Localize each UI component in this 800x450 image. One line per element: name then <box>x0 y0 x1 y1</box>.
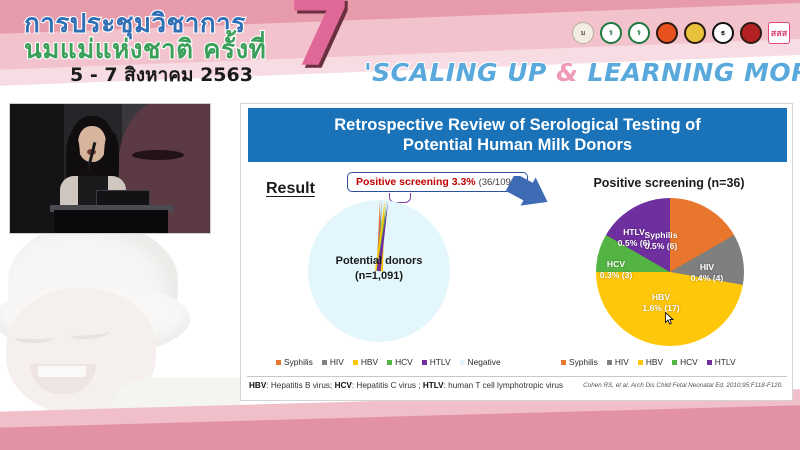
legend-item-hiv-right: HIV <box>607 357 629 367</box>
conference-edition-number: 7 <box>288 0 352 80</box>
pie-label-hiv-value: 0.4% (4) <box>681 273 733 284</box>
pie-label-hbv-name: HBV <box>633 292 689 303</box>
podium <box>54 210 168 234</box>
slide-title-line1: Retrospective Review of Serological Test… <box>334 115 700 135</box>
legend-item-hbv-left: HBV <box>353 357 378 367</box>
pie-left-label-line2: (n=1,091) <box>308 269 450 284</box>
pie-left-center-label: Potential donors (n=1,091) <box>308 254 450 284</box>
legend-item-hcv-right: HCV <box>672 357 698 367</box>
legend-item-htlv-right: HTLV <box>707 357 736 367</box>
legend-potential-donors: Syphilis HIV HBV HCV HTLV Negative <box>276 357 501 367</box>
pie-label-hcv-value: 0.3% (3) <box>593 270 639 281</box>
footnote-abbr-hbv: HBV <box>249 381 266 390</box>
sponsor-logo-row: ม ⚕ ⚕ ธ สสส <box>572 22 790 44</box>
logo-black-emblem: ธ <box>712 22 734 44</box>
mouse-cursor-icon <box>665 312 674 325</box>
logo-royal-seal: ม <box>572 22 594 44</box>
legend-item-hcv-left: HCV <box>387 357 413 367</box>
pie-label-hbv-value: 1.6% (17) <box>633 303 689 314</box>
conference-tagline: 'SCALING UP & LEARNING MORE' <box>364 58 800 87</box>
pie-label-hbv: HBV 1.6% (17) <box>633 292 689 314</box>
screenshot-root: การประชุมวิชาการ นมแม่แห่งชาติ ครั้งที่ … <box>0 0 800 450</box>
tagline-part2: LEARNING MORE' <box>578 58 800 87</box>
positive-screening-callout: Positive screening 3.3% (36/1091) <box>347 172 528 192</box>
pie-label-hiv: HIV 0.4% (4) <box>681 262 733 284</box>
legend-item-negative-left: Negative <box>460 357 501 367</box>
logo-ministry-health-1: ⚕ <box>600 22 622 44</box>
footnote-def-hcv: : Hepatitis C virus ; <box>352 381 423 390</box>
pie-label-hcv: HCV 0.3% (3) <box>593 259 639 281</box>
slide-title-line2: Potential Human Milk Donors <box>403 135 632 155</box>
footnote-abbr-htlv: HTLV <box>423 381 444 390</box>
logo-thaihealth: สสส <box>768 22 790 44</box>
conference-banner: การประชุมวิชาการ นมแม่แห่งชาติ ครั้งที่ … <box>0 0 800 95</box>
legend-positive-screening: Syphilis HIV HBV HCV HTLV <box>561 357 736 367</box>
logo-ministry-health-2: ⚕ <box>628 22 650 44</box>
blue-arrow-icon <box>506 176 552 224</box>
conference-date-thai: 5 - 7 สิงหาคม 2563 <box>70 60 253 90</box>
presenter-video-panel[interactable] <box>9 103 211 234</box>
footnote-divider <box>247 376 787 377</box>
legend-item-syphilis-left: Syphilis <box>276 357 313 367</box>
result-heading: Result <box>266 180 315 198</box>
pie-left-label-line1: Potential donors <box>308 254 450 269</box>
logo-red-emblem <box>740 22 762 44</box>
pie-label-htlv-name: HTLV <box>609 227 659 238</box>
pie-label-htlv: HTLV 0.5% (6) <box>609 227 659 249</box>
slide-citation: Cohen RS, et al. Arch Dis Child Fetal Ne… <box>583 382 783 389</box>
slide-title: Retrospective Review of Serological Test… <box>248 108 787 162</box>
pie-label-hiv-name: HIV <box>681 262 733 273</box>
footnote-def-htlv: : human T cell lymphotropic virus <box>444 381 563 390</box>
pie-right-title: Positive screening (n=36) <box>559 176 779 190</box>
callout-primary-text: Positive screening 3.3% <box>356 176 476 188</box>
pie-chart-potential-donors: Potential donors (n=1,091) <box>308 200 450 342</box>
legend-item-htlv-left: HTLV <box>422 357 451 367</box>
baby-photo-fade-overlay <box>0 228 240 418</box>
legend-item-hbv-right: HBV <box>638 357 663 367</box>
footnote-def-hbv: : Hepatitis B virus; <box>266 381 334 390</box>
pie-label-hcv-name: HCV <box>593 259 639 270</box>
legend-item-syphilis-right: Syphilis <box>561 357 598 367</box>
logo-gold-emblem <box>684 22 706 44</box>
presentation-slide[interactable]: Retrospective Review of Serological Test… <box>240 103 793 401</box>
pie-label-htlv-value: 0.5% (6) <box>609 238 659 249</box>
tagline-part1: 'SCALING UP <box>364 58 556 87</box>
slide-footnote: HBV: Hepatitis B virus; HCV: Hepatitis C… <box>249 381 609 390</box>
footnote-abbr-hcv: HCV <box>335 381 352 390</box>
tagline-ampersand: & <box>556 58 578 87</box>
logo-orange-emblem <box>656 22 678 44</box>
legend-item-hiv-left: HIV <box>322 357 344 367</box>
